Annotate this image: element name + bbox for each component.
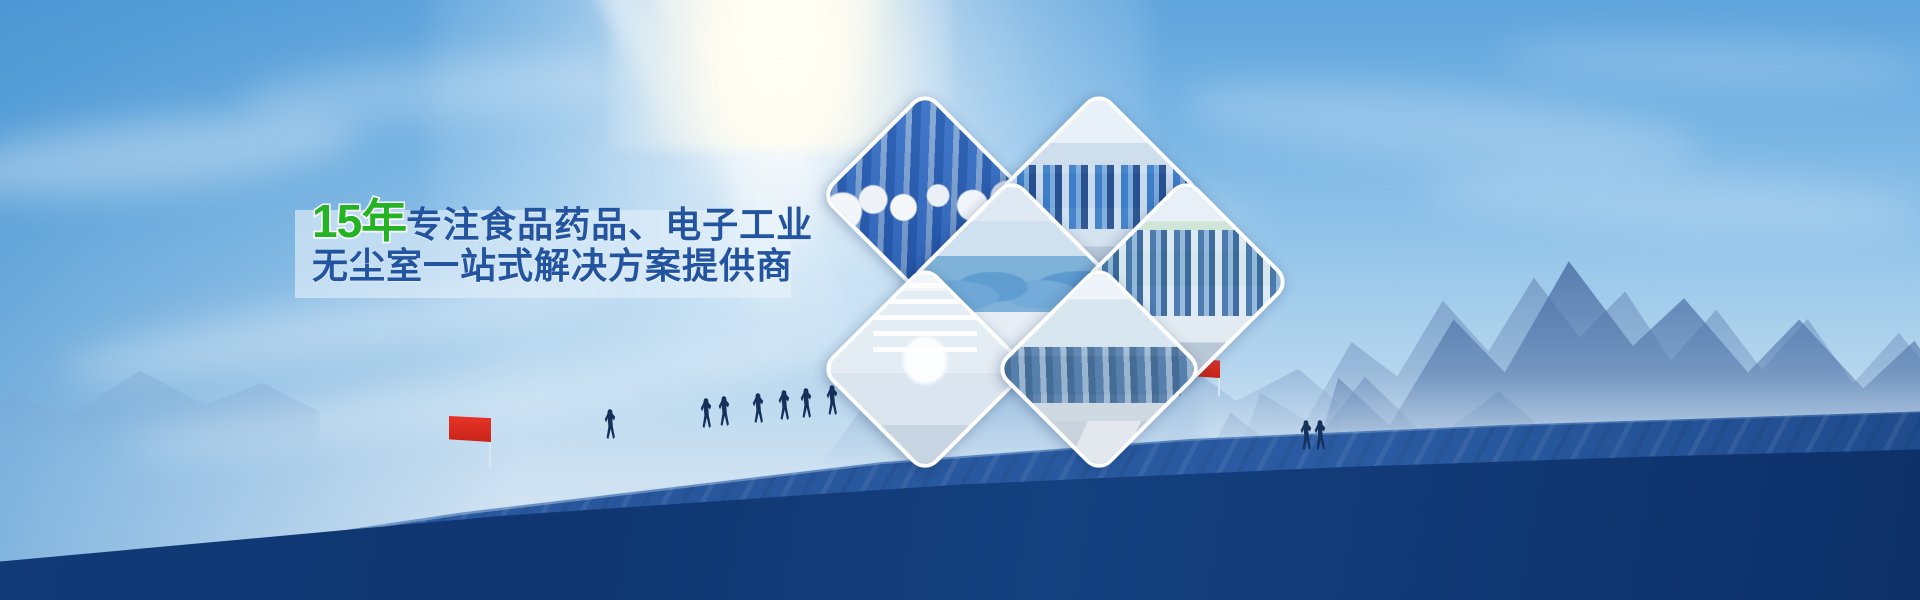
hero-banner: 15年专注食品药品、电子工业 无尘室一站式解决方案提供商 (0, 0, 1920, 600)
headline-line-2: 无尘室一站式解决方案提供商 (312, 248, 832, 296)
years-badge: 15年 (312, 195, 406, 247)
headline-line-1-text: 专注食品药品、电子工业 (406, 204, 813, 245)
climber (752, 393, 765, 423)
climber (700, 398, 713, 428)
photo-diamond-cluster (840, 95, 1280, 465)
climber (1300, 420, 1313, 450)
climber (778, 390, 791, 420)
climber (1314, 420, 1327, 450)
climber (800, 388, 813, 418)
climber (604, 409, 617, 439)
headline-line-1: 15年专注食品药品、电子工业 (312, 198, 832, 246)
red-flag-icon (449, 416, 491, 442)
climber (826, 385, 839, 415)
climber (718, 396, 731, 426)
headline-block: 15年专注食品药品、电子工业 无尘室一站式解决方案提供商 (312, 198, 832, 296)
